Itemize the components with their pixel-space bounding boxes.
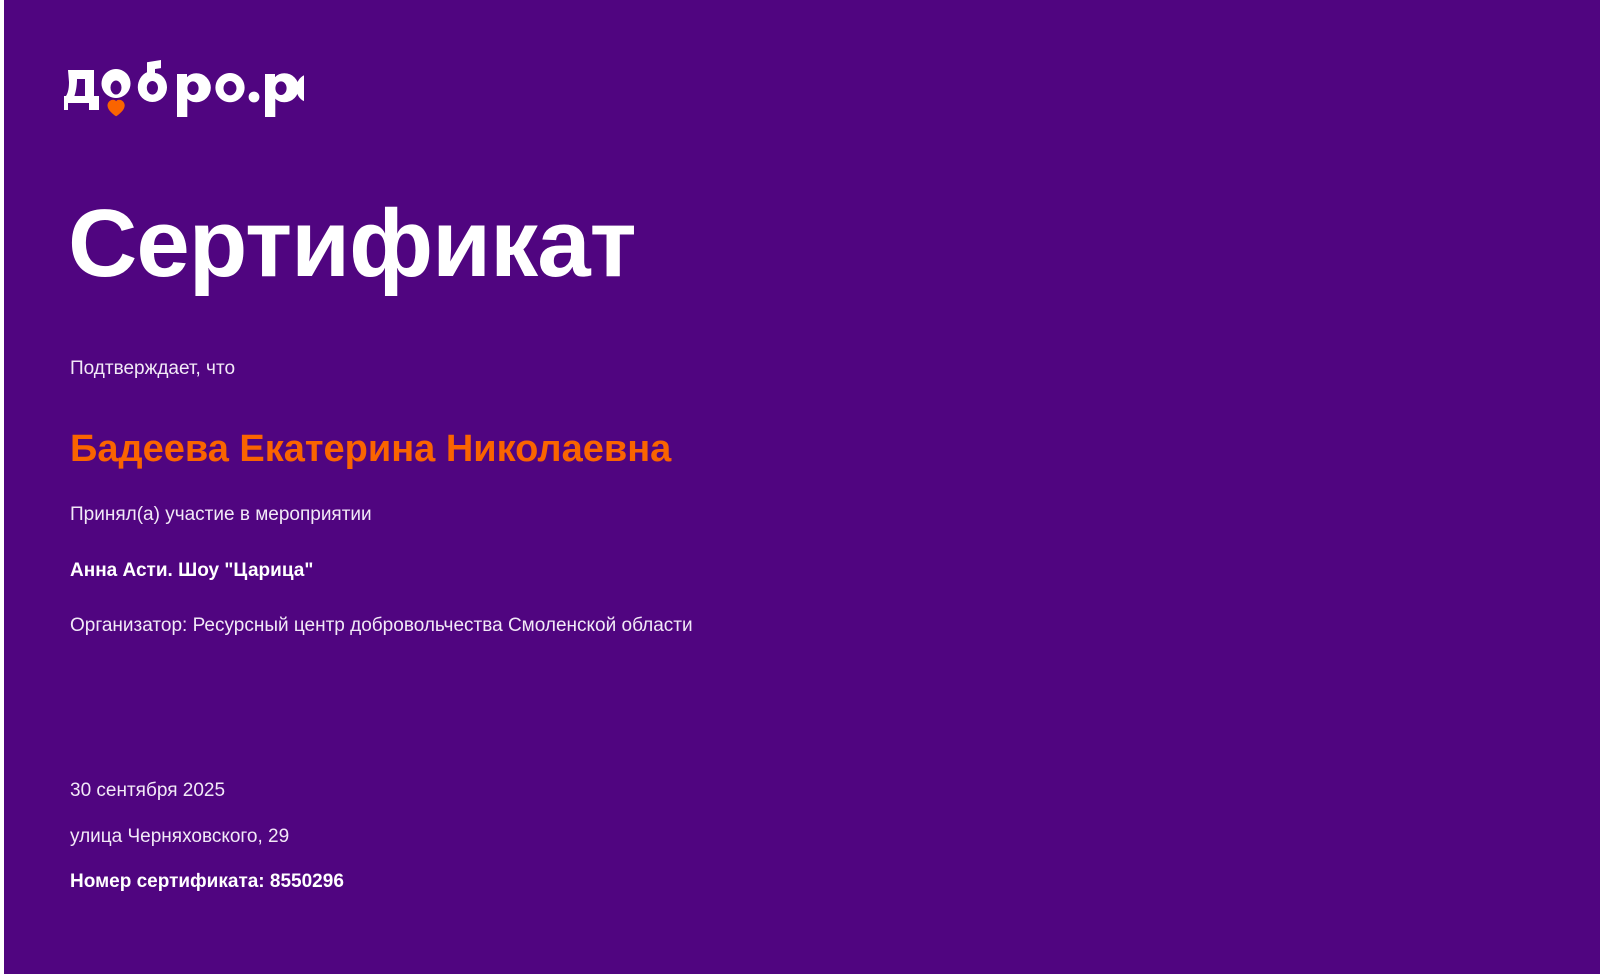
- event-title: Анна Асти. Шоу "Царица": [70, 528, 1170, 584]
- certificate-footer: 30 сентября 2025 улица Черняховского, 29…: [70, 778, 970, 895]
- certificate-page: Сертификат Подтверждает, что Бадеева Ека…: [0, 0, 1600, 978]
- certificate-canvas: Сертификат Подтверждает, что Бадеева Ека…: [4, 0, 1600, 974]
- page-title: Сертификат: [68, 196, 636, 292]
- brand-logo: [64, 58, 304, 118]
- lead-line: Подтверждает, что: [70, 356, 1170, 382]
- recipient-name: Бадеева Екатерина Николаевна: [70, 382, 690, 473]
- heart-icon: [108, 100, 125, 117]
- issue-date: 30 сентября 2025: [70, 778, 970, 804]
- participation-line: Принял(а) участие в мероприятии: [70, 472, 1170, 528]
- dobro-rf-logo-svg: [64, 58, 304, 118]
- organizer-line: Организатор: Ресурсный центр добровольче…: [70, 584, 1170, 639]
- venue-address: улица Черняховского, 29: [70, 804, 970, 850]
- certificate-body: Подтверждает, что Бадеева Екатерина Нико…: [70, 356, 1170, 638]
- certificate-number: Номер сертификата: 8550296: [70, 849, 970, 895]
